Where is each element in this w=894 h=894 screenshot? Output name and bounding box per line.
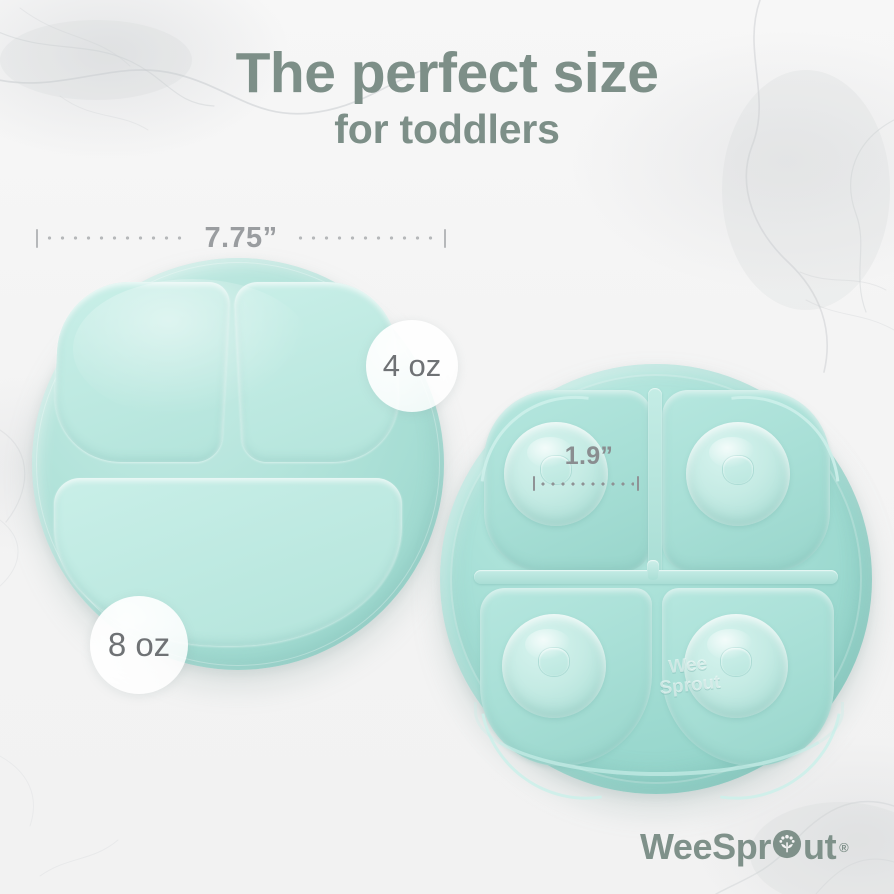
brand-name-part2: Spr bbox=[712, 826, 771, 868]
product-image-canvas: The perfect size for toddlers 7.75” bbox=[0, 0, 894, 894]
dimension-end-cap-left bbox=[36, 229, 38, 248]
plate-compartment-upper-left bbox=[51, 282, 230, 462]
capacity-badge-4oz: 4 oz bbox=[366, 320, 458, 412]
dimension-end-cap-right bbox=[637, 476, 639, 491]
suction-cup-width-label: 1.9” bbox=[533, 444, 645, 469]
brand-name-part1: Wee bbox=[640, 826, 712, 868]
capacity-badge-8oz-label: 8 oz bbox=[108, 626, 170, 664]
brand-name-part3: ut bbox=[803, 826, 836, 868]
plate-width-label: 7.75” bbox=[193, 222, 290, 255]
suction-cup-highlight bbox=[709, 437, 755, 468]
brand-logo: WeeSprut® bbox=[640, 826, 848, 868]
suction-cup-highlight bbox=[525, 629, 571, 660]
dimension-end-cap-right bbox=[444, 229, 446, 248]
underside-ridge-vertical bbox=[648, 388, 662, 578]
dimension-dotted-line-left bbox=[43, 236, 188, 240]
underside-ridge-junction bbox=[647, 560, 659, 580]
sprout-emblem-icon bbox=[772, 826, 802, 868]
dimension-end-cap-left bbox=[533, 476, 535, 491]
capacity-badge-8oz: 8 oz bbox=[90, 596, 188, 694]
suction-cup-dimension-rule bbox=[533, 476, 639, 491]
suction-cup-highlight bbox=[707, 629, 753, 660]
suction-cup-top-right bbox=[686, 422, 790, 526]
registered-trademark-symbol: ® bbox=[839, 840, 848, 855]
dimension-dotted-line-right bbox=[294, 236, 439, 240]
plate-underside: Wee Sprout bbox=[440, 364, 872, 794]
plate-width-dimension: 7.75” bbox=[36, 222, 446, 254]
toddler-plate bbox=[32, 258, 444, 670]
suction-cup-dimension: 1.9” bbox=[533, 444, 645, 498]
dimension-dotted-line bbox=[538, 482, 634, 486]
capacity-badge-4oz-label: 4 oz bbox=[383, 348, 442, 384]
